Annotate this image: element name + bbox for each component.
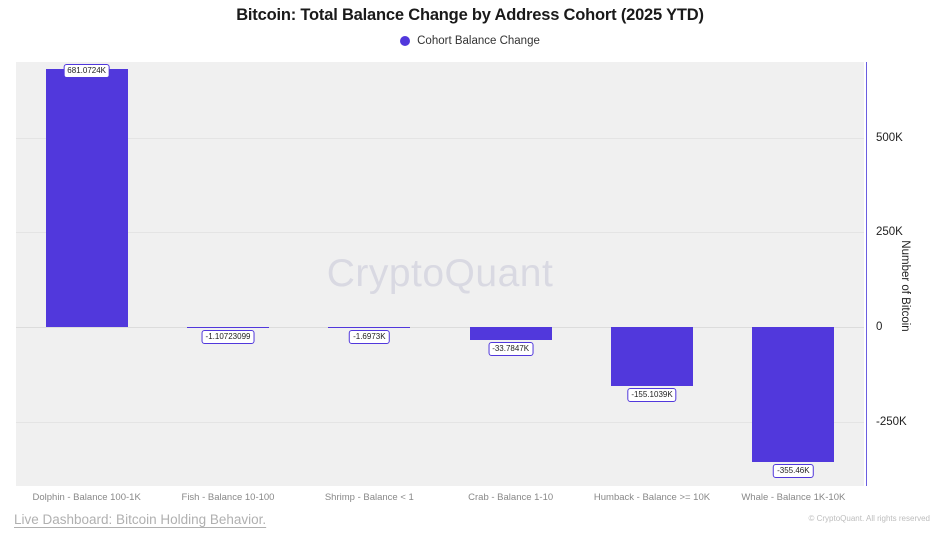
- x-label-4: Humback - Balance >= 10K: [594, 492, 710, 503]
- live-dashboard-link[interactable]: Live Dashboard: Bitcoin Holding Behavior…: [14, 512, 266, 527]
- bar-5[interactable]: [752, 327, 834, 462]
- y-tick-0: 0: [876, 321, 882, 333]
- bar-value-label-1: -1.10723099: [202, 330, 255, 344]
- bar-1[interactable]: [187, 327, 269, 328]
- x-label-1: Fish - Balance 10-100: [182, 492, 275, 503]
- copyright-notice: © CryptoQuant. All rights reserved: [809, 514, 931, 523]
- y-tick-500K: 500K: [876, 132, 903, 144]
- y-axis-title: Number of Bitcoin: [899, 240, 911, 331]
- x-label-3: Crab - Balance 1-10: [468, 492, 553, 503]
- bar-value-label-0: 681.0724K: [63, 64, 110, 78]
- bar-2[interactable]: [328, 327, 410, 328]
- bar-value-label-5: -355.46K: [773, 464, 813, 478]
- bar-value-label-4: -155.1039K: [627, 388, 676, 402]
- x-label-2: Shrimp - Balance < 1: [325, 492, 414, 503]
- chart-container: Bitcoin: Total Balance Change by Address…: [0, 0, 940, 556]
- y-tick--250K: -250K: [876, 416, 907, 428]
- x-label-0: Dolphin - Balance 100-1K: [33, 492, 141, 503]
- y-axis-line: [866, 62, 867, 486]
- chart-legend: Cohort Balance Change: [0, 35, 940, 47]
- legend-swatch-cohort-balance-change: [400, 36, 410, 46]
- x-label-5: Whale - Balance 1K-10K: [741, 492, 845, 503]
- bar-value-label-3: -33.7847K: [488, 342, 533, 356]
- legend-label-cohort-balance-change[interactable]: Cohort Balance Change: [417, 35, 540, 47]
- bar-3[interactable]: [470, 327, 552, 340]
- bar-0[interactable]: [46, 69, 128, 327]
- plot-area: CryptoQuant 681.0724K-1.10723099-1.6973K…: [16, 62, 864, 486]
- bars-layer: 681.0724K-1.10723099-1.6973K-33.7847K-15…: [16, 62, 864, 486]
- bar-4[interactable]: [611, 327, 693, 386]
- bar-value-label-2: -1.6973K: [349, 330, 389, 344]
- chart-title: Bitcoin: Total Balance Change by Address…: [0, 6, 940, 25]
- y-tick-250K: 250K: [876, 226, 903, 238]
